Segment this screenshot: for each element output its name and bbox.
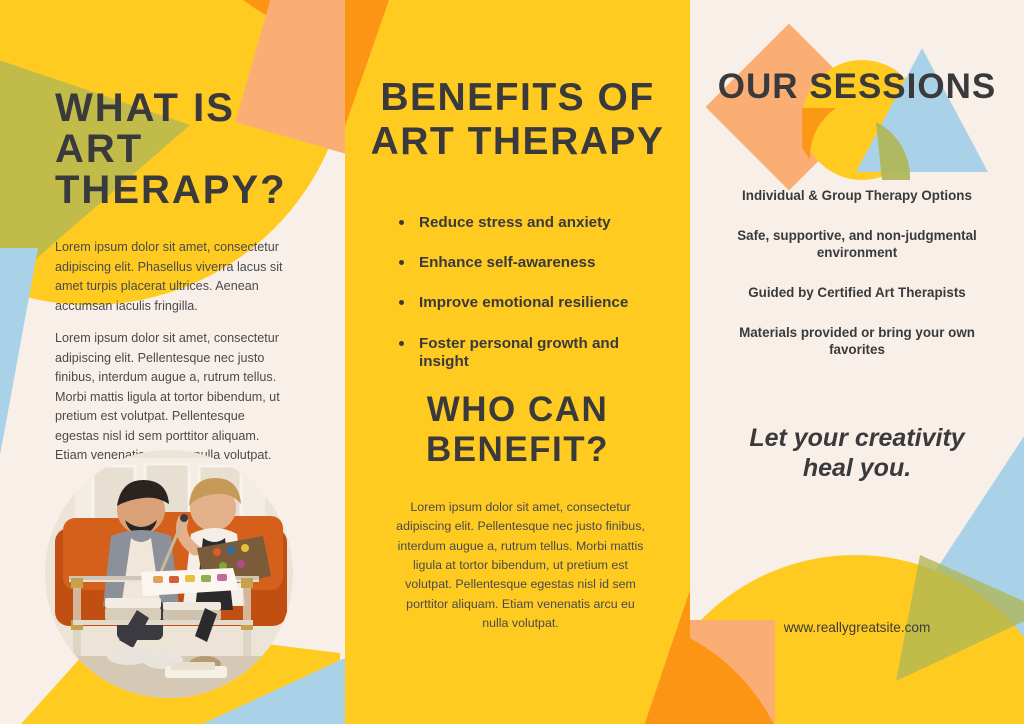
benefit-item-2: Enhance self-awareness [397,254,667,272]
panel-left: WHAT IS ART THERAPY? Lorem ipsum dolor s… [0,0,345,724]
art-therapy-session-photo [45,450,293,698]
session-item-2: Safe, supportive, and non-judgmental env… [730,227,984,262]
section-title-benefits: BENEFITS OF ART THERAPY [345,76,690,163]
panel-right: OUR SESSIONS Individual & Group Therapy … [690,0,1024,724]
yellow-circle-bottom-shape [690,555,1024,724]
panel-middle: BENEFITS OF ART THERAPY Reduce stress an… [345,0,690,724]
section-title-who-can-benefit: WHO CAN BENEFIT? [345,390,690,470]
left-paragraph-1: Lorem ipsum dolor sit amet, consectetur … [55,238,290,316]
session-item-1: Individual & Group Therapy Options [730,187,984,205]
orange-overlap-shape [802,108,858,166]
brochure-page: WHAT IS ART THERAPY? Lorem ipsum dolor s… [0,0,1024,724]
benefit-item-3: Improve emotional resilience [397,294,667,312]
session-item-4: Materials provided or bring your own fav… [730,324,984,359]
left-paragraph-2: Lorem ipsum dolor sit amet, consectetur … [55,329,290,466]
website-url[interactable]: www.reallygreatsite.com [690,620,1024,635]
session-item-3: Guided by Certified Art Therapists [730,284,984,302]
orange-quarter-circle-shape [170,0,345,40]
section-title-our-sessions: OUR SESSIONS [690,68,1024,106]
salmon-rect-bottom-shape [690,620,775,724]
salmon-diamond-shape [706,24,873,191]
who-can-benefit-body: Lorem ipsum dolor sit amet, consectetur … [393,498,648,633]
benefit-item-1: Reduce stress and anxiety [397,214,667,232]
sessions-feature-list: Individual & Group Therapy Options Safe,… [730,187,984,381]
page-title-what-is-art-therapy: WHAT IS ART THERAPY? [55,88,325,210]
olive-overlap-shape [876,118,938,184]
left-body-text: Lorem ipsum dolor sit amet, consectetur … [55,238,290,479]
photo-illustration [45,450,293,698]
benefits-list: Reduce stress and anxiety Enhance self-a… [397,214,667,393]
benefit-item-4: Foster personal growth and insight [397,335,667,371]
tagline: Let your creativity heal you. [730,424,984,483]
who-can-benefit-paragraph: Lorem ipsum dolor sit amet, consectetur … [393,498,648,633]
